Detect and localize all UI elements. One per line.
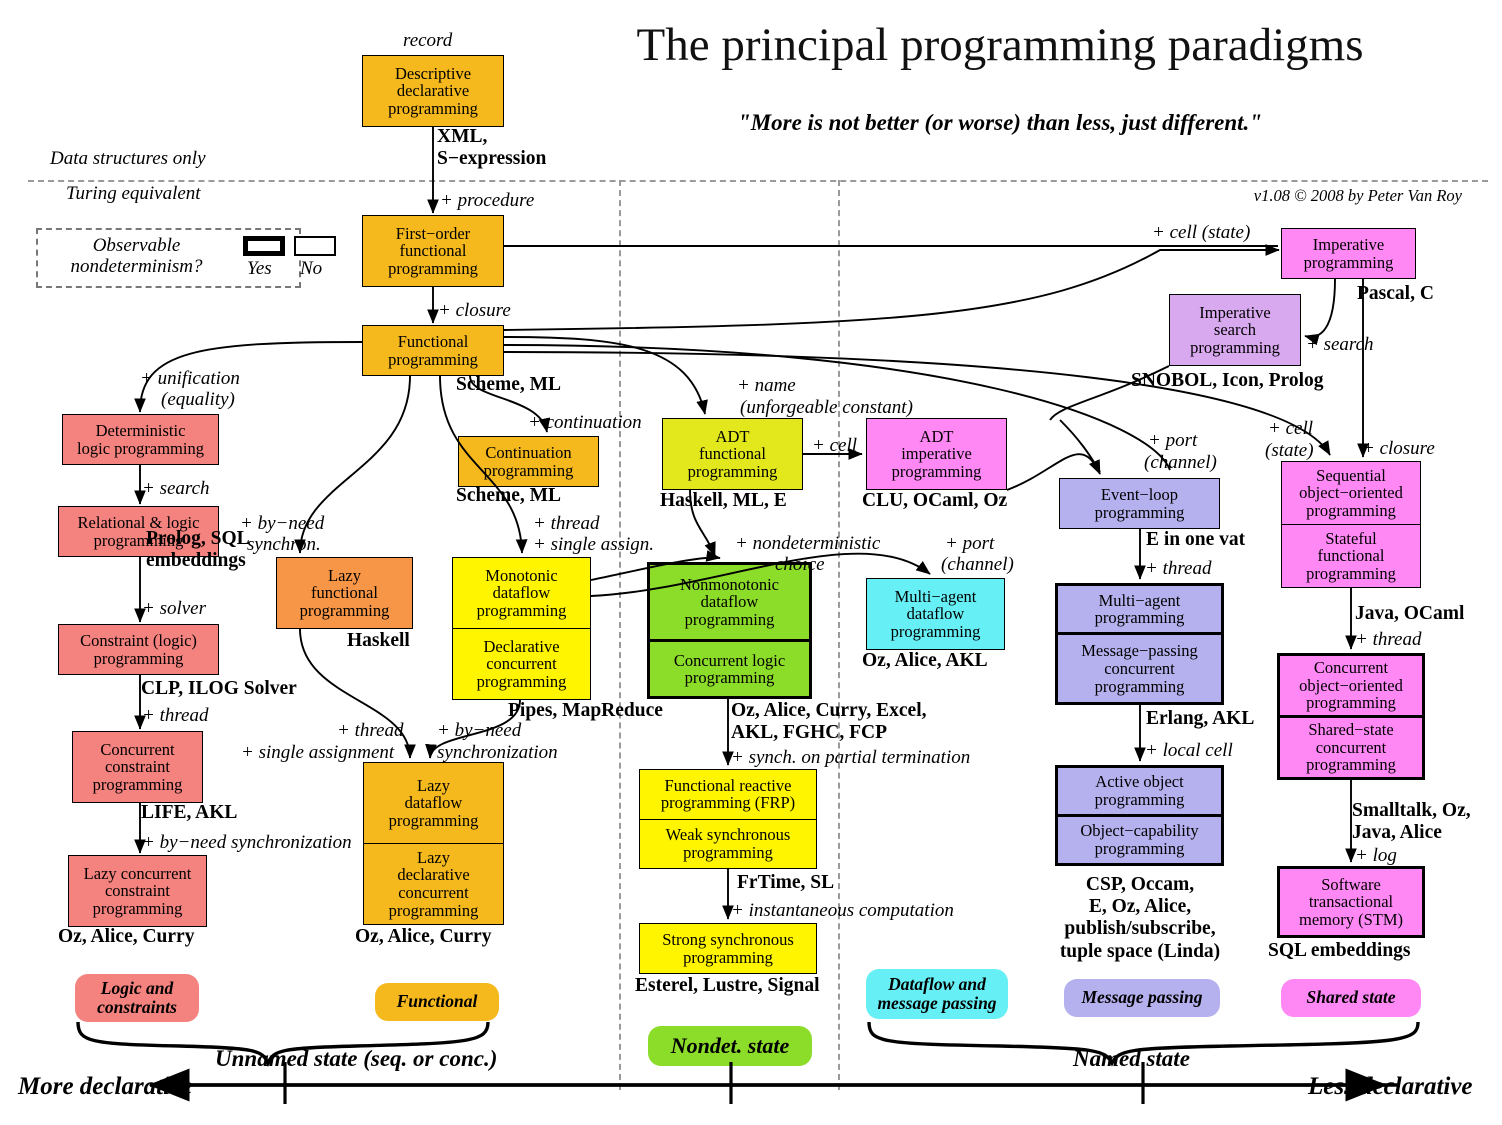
box-descriptive-declarative-programming[interactable]: Descriptive declarative programming <box>362 55 504 127</box>
box-weak-synchronous-programming[interactable]: Weak synchronous programming <box>640 819 816 869</box>
label-unification: + unification <box>140 368 240 390</box>
box-concurrent-oo-stack[interactable]: Concurrent object−oriented programming S… <box>1277 653 1425 780</box>
page-title: The principal programming paradigms <box>520 18 1480 72</box>
box-lazy-concurrent-constraint-programming[interactable]: Lazy concurrent constraint programming <box>68 855 207 927</box>
box-active-object-stack[interactable]: Active object programming Object−capabil… <box>1055 765 1224 866</box>
label-solver: + solver <box>142 598 206 620</box>
brace-label-named-state: Named state <box>1073 1046 1190 1072</box>
label-cell-state-2: (state) <box>1265 440 1314 462</box>
legend-observable-nondeterminism: Observablenondeterminism? Yes No <box>36 228 301 288</box>
box-event-loop-programming[interactable]: Event−loop programming <box>1059 478 1220 529</box>
label-thread-mid: + thread <box>533 513 599 535</box>
label-port-channel-1: + port <box>945 533 994 555</box>
label-name: + name <box>737 375 796 397</box>
lang-oz-alice-curry-excel: Oz, Alice, Curry, Excel,AKL, FGHC, FCP <box>731 700 927 744</box>
lang-snobol-icon-prolog: SNOBOL, Icon, Prolog <box>1131 370 1324 392</box>
box-nonmonotonic-dataflow-programming[interactable]: Nonmonotonic dataflow programming <box>650 565 809 639</box>
vertical-guide-1 <box>619 180 621 1090</box>
label-instantaneous-computation: + instantaneous computation <box>731 900 954 922</box>
box-imperative-programming[interactable]: Imperative programming <box>1281 228 1416 279</box>
lang-haskell-ml-e: Haskell, ML, E <box>660 490 787 512</box>
box-multi-agent-dataflow-programming[interactable]: Multi−agent dataflow programming <box>866 578 1005 650</box>
legend-question: Observablenondeterminism? <box>44 235 229 278</box>
legend-label-yes: Yes <box>247 258 272 280</box>
box-constraint-logic-programming[interactable]: Constraint (logic) programming <box>58 624 219 675</box>
label-byneed-1: + by−need <box>437 720 521 742</box>
label-byneed-synchron-2: synchron. <box>247 534 321 556</box>
box-monotonic-dataflow-stack[interactable]: Monotonic dataflow programming Declarati… <box>452 557 591 700</box>
box-first-order-functional-programming[interactable]: First−order functional programming <box>362 215 504 287</box>
label-closure-right: + closure <box>1362 438 1435 460</box>
version-credit: v1.08 © 2008 by Peter Van Roy <box>1254 186 1462 206</box>
vertical-guide-2 <box>838 180 840 1090</box>
lang-smalltalk-oz-java-alice: Smalltalk, Oz,Java, Alice <box>1352 800 1471 844</box>
lang-pascal-c: Pascal, C <box>1357 283 1434 305</box>
box-concurrent-logic-programming[interactable]: Concurrent logic programming <box>650 639 809 696</box>
pill-functional[interactable]: Functional <box>375 983 499 1021</box>
legend-swatch-no <box>294 236 336 256</box>
box-active-object-programming[interactable]: Active object programming <box>1058 768 1221 814</box>
lang-csp-occam-list: CSP, Occam,E, Oz, Alice,publish/subscrib… <box>1050 874 1230 963</box>
label-synch-partial-termination: + synch. on partial termination <box>731 747 970 769</box>
label-cell-state-1: + cell <box>1268 418 1313 440</box>
label-thread-left: + thread <box>142 705 208 727</box>
label-continuation: + continuation <box>528 412 642 434</box>
label-byneed-synchron-1: + by−need <box>240 513 324 535</box>
label-single-assignment: + single assignment <box>241 742 394 764</box>
box-functional-reactive-programming[interactable]: Functional reactive programming (FRP) <box>640 770 816 819</box>
lang-sql-embeddings: SQL embeddings <box>1268 940 1411 962</box>
lang-oz-alice-akl: Oz, Alice, AKL <box>862 650 988 672</box>
label-byneed-sync-left: + by−need synchronization <box>142 832 352 854</box>
label-log: + log <box>1355 845 1397 867</box>
page-subtitle: "More is not better (or worse) than less… <box>560 110 1440 136</box>
pill-shared-state[interactable]: Shared state <box>1281 979 1421 1017</box>
box-imperative-search-programming[interactable]: Imperative search programming <box>1169 294 1301 366</box>
box-concurrent-object-oriented-programming[interactable]: Concurrent object−oriented programming <box>1280 656 1422 715</box>
pill-nondet-state[interactable]: Nondet. state <box>648 1026 812 1066</box>
box-adt-imperative-programming[interactable]: ADT imperative programming <box>866 418 1007 490</box>
label-turing-equivalent: Turing equivalent <box>66 183 201 205</box>
box-lazy-functional-programming[interactable]: Lazy functional programming <box>276 557 413 629</box>
label-record: record <box>403 30 452 52</box>
lang-e-in-one-vat: E in one vat <box>1146 529 1245 551</box>
pill-message-passing[interactable]: Message passing <box>1064 979 1220 1017</box>
label-cell-adt: + cell <box>812 435 857 457</box>
label-thread-mid2: + thread <box>337 720 403 742</box>
lang-oz-alice-curry-mid: Oz, Alice, Curry <box>355 926 491 948</box>
lang-prolog-sql-embeddings: Prolog, SQLembeddings <box>146 528 250 572</box>
label-nondet-choice-2: choice <box>775 554 825 576</box>
label-closure: + closure <box>438 300 511 322</box>
label-single-assign: + single assign. <box>533 534 654 556</box>
box-sequential-oo-stack[interactable]: Sequential object−oriented programming S… <box>1281 461 1421 588</box>
label-data-structures-only: Data structures only <box>50 148 206 170</box>
lang-oz-alice-curry-left: Oz, Alice, Curry <box>58 926 194 948</box>
box-deterministic-logic-programming[interactable]: Deterministic logic programming <box>62 414 219 465</box>
label-cell-state-top: + cell (state) <box>1152 222 1250 244</box>
label-equality: (equality) <box>161 389 235 411</box>
lang-scheme-ml-fp: Scheme, ML <box>456 374 561 396</box>
lang-life-akl: LIFE, AKL <box>141 802 237 824</box>
lang-esterel-lustre-signal: Esterel, Lustre, Signal <box>635 975 820 997</box>
label-procedure: + procedure <box>440 190 534 212</box>
box-object-capability-programming[interactable]: Object−capability programming <box>1058 814 1221 863</box>
label-port-channel-b1: + port <box>1148 430 1197 452</box>
axis-label-more-declarative: More declarative <box>18 1073 192 1101</box>
box-lazy-dataflow-programming[interactable]: Lazy dataflow programming <box>364 763 503 843</box>
box-nonmonotonic-dataflow-stack[interactable]: Nonmonotonic dataflow programming Concur… <box>647 562 812 699</box>
brace-label-unnamed-state: Unnamed state (seq. or conc.) <box>215 1046 497 1072</box>
box-continuation-programming[interactable]: Continuation programming <box>458 436 599 487</box>
box-concurrent-constraint-programming[interactable]: Concurrent constraint programming <box>72 731 203 803</box>
box-message-passing-concurrent-programming[interactable]: Message−passing concurrent programming <box>1058 632 1221 702</box>
lang-xml-sexpression: XML,S−expression <box>437 126 546 170</box>
lang-frtime-sl: FrTime, SL <box>737 872 834 894</box>
box-multi-agent-stack[interactable]: Multi−agent programming Message−passing … <box>1055 583 1224 705</box>
lang-haskell: Haskell <box>347 630 410 652</box>
box-adt-functional-programming[interactable]: ADT functional programming <box>662 418 803 490</box>
legend-swatch-yes <box>243 236 285 256</box>
lang-java-ocaml: Java, OCaml <box>1355 603 1464 625</box>
label-port-channel-b2: (channel) <box>1144 452 1217 474</box>
label-unforgeable-constant: (unforgeable constant) <box>740 397 913 419</box>
box-lazy-dataflow-stack[interactable]: Lazy dataflow programming Lazy declarati… <box>363 762 504 925</box>
box-shared-state-concurrent-programming[interactable]: Shared−state concurrent programming <box>1280 715 1422 777</box>
label-local-cell: + local cell <box>1145 740 1233 762</box>
lang-scheme-ml-continuation: Scheme, ML <box>456 485 561 507</box>
box-multi-agent-programming[interactable]: Multi−agent programming <box>1058 586 1221 632</box>
lang-erlang-akl: Erlang, AKL <box>1146 708 1254 730</box>
label-byneed-2: synchronization <box>437 742 558 764</box>
pill-dataflow-and-message-passing[interactable]: Dataflow andmessage passing <box>866 969 1008 1019</box>
turing-divider <box>28 180 1488 182</box>
label-nondet-choice-1: + nondeterministic <box>735 533 880 555</box>
box-monotonic-dataflow-programming[interactable]: Monotonic dataflow programming <box>453 558 590 628</box>
label-search-left: + search <box>142 478 210 500</box>
label-thread-far-right: + thread <box>1355 629 1421 651</box>
label-search-right: + search <box>1306 334 1374 356</box>
box-software-transactional-memory[interactable]: Software transactional memory (STM) <box>1277 866 1425 938</box>
pill-logic-and-constraints[interactable]: Logic andconstraints <box>75 974 199 1022</box>
box-stateful-functional-programming[interactable]: Stateful functional programming <box>1282 524 1420 587</box>
legend-label-no: No <box>300 258 322 280</box>
label-port-channel-2: (channel) <box>941 554 1014 576</box>
box-functional-programming[interactable]: Functional programming <box>362 325 504 376</box>
axis-label-less-declarative: Less declarative <box>1308 1073 1473 1101</box>
box-frp-stack[interactable]: Functional reactive programming (FRP) We… <box>639 769 817 869</box>
box-sequential-object-oriented-programming[interactable]: Sequential object−oriented programming <box>1282 462 1420 524</box>
box-declarative-concurrent-programming[interactable]: Declarative concurrent programming <box>453 628 590 699</box>
box-strong-synchronous-programming[interactable]: Strong synchronous programming <box>639 923 817 974</box>
lang-clp-ilog-solver: CLP, ILOG Solver <box>141 678 297 700</box>
lang-pipes-mapreduce: Pipes, MapReduce <box>508 700 663 722</box>
diagram-canvas: The principal programming paradigms "Mor… <box>0 0 1502 1125</box>
lang-clu-ocaml-oz: CLU, OCaml, Oz <box>862 490 1007 512</box>
box-lazy-declarative-concurrent-programming[interactable]: Lazy declarative concurrent programming <box>364 843 503 924</box>
label-thread-right: + thread <box>1145 558 1211 580</box>
